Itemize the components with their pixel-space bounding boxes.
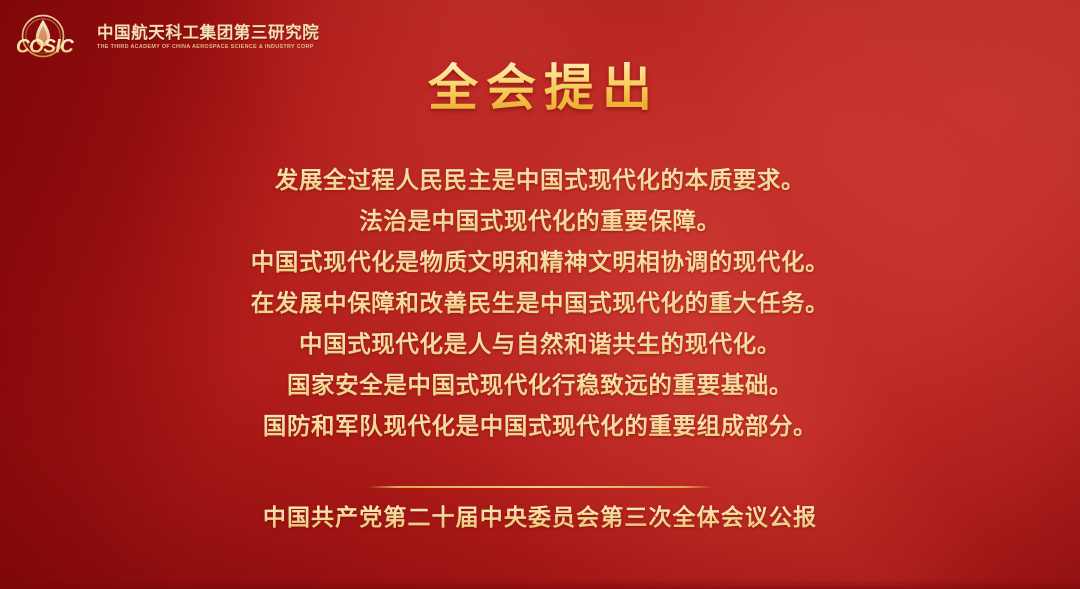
statement-line: 国防和军队现代化是中国式现代化的重要组成部分。 <box>0 406 1080 447</box>
cosic-emblem-icon: COSIC <box>14 12 88 62</box>
svg-text:COSIC: COSIC <box>16 37 74 58</box>
page-title: 全会提出 <box>0 62 1080 115</box>
brand-name-en: THE THIRD ACADEMY OF CHINA AEROSPACE SCI… <box>97 45 319 51</box>
source-caption-text: 中国共产党第二十届中央委员会第三次全体会议公报 <box>263 504 817 530</box>
page-title-text: 全会提出 <box>420 62 660 115</box>
statement-list: 发展全过程人民民主是中国式现代化的本质要求。 法治是中国式现代化的重要保障。 中… <box>0 160 1080 447</box>
footer-divider <box>368 486 712 488</box>
background-bottom-edge <box>0 579 1080 589</box>
statement-line: 国家安全是中国式现代化行稳致远的重要基础。 <box>0 365 1080 406</box>
brand-lockup: COSIC 中国航天科工集团第三研究院 THE THIRD ACADEMY OF… <box>14 12 319 62</box>
brand-text-block: 中国航天科工集团第三研究院 THE THIRD ACADEMY OF CHINA… <box>97 23 319 50</box>
statement-line: 发展全过程人民民主是中国式现代化的本质要求。 <box>0 160 1080 201</box>
statement-line: 中国式现代化是物质文明和精神文明相协调的现代化。 <box>0 242 1080 283</box>
source-caption: 中国共产党第二十届中央委员会第三次全体会议公报 <box>0 503 1080 532</box>
statement-line: 中国式现代化是人与自然和谐共生的现代化。 <box>0 324 1080 365</box>
poster-slide: COSIC 中国航天科工集团第三研究院 THE THIRD ACADEMY OF… <box>0 0 1080 589</box>
statement-line: 法治是中国式现代化的重要保障。 <box>0 201 1080 242</box>
brand-name-cn: 中国航天科工集团第三研究院 <box>97 25 319 42</box>
statement-line: 在发展中保障和改善民生是中国式现代化的重大任务。 <box>0 283 1080 324</box>
